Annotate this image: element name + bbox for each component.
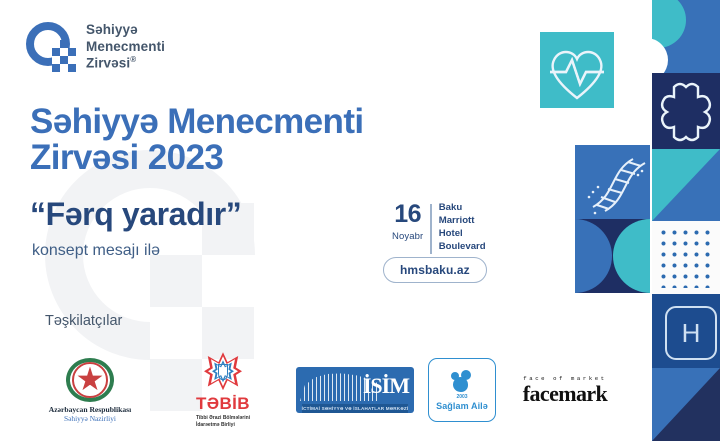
divider bbox=[430, 204, 432, 254]
organiser-logo-saglam-aile[interactable]: 2003 Sağlam Ailə bbox=[428, 358, 496, 422]
title-line-1: Səhiyyə Menecmenti bbox=[30, 104, 500, 140]
organiser-logo-isim[interactable]: İSİM İCTİMAİ SƏHİYYƏ VƏ İSLAHATLAR MƏRKƏ… bbox=[296, 367, 414, 413]
event-venue: Baku Marriott Hotel Boulevard bbox=[439, 202, 486, 254]
brand-logo-line3: Zirvəsi® bbox=[86, 55, 165, 72]
organiser-logo-ministry-of-health[interactable]: Azərbaycan Respublikası Səhiyyə Nazirliy… bbox=[30, 358, 150, 423]
dna-helix-icon bbox=[575, 145, 650, 219]
facemark-name: facemark bbox=[523, 382, 607, 405]
venue-line-3: Hotel bbox=[439, 228, 486, 241]
saglam-aile-year: 2003 bbox=[456, 394, 467, 400]
brand-logo-text: Səhiyyə Menecmenti Zirvəsi® bbox=[86, 22, 165, 72]
medical-cross-icon bbox=[652, 73, 720, 149]
decor-tile-half-circles bbox=[652, 0, 720, 73]
decor-tile-double-half-circle bbox=[575, 219, 650, 293]
decor-tile-dot-grid bbox=[652, 221, 720, 294]
azerbaijan-state-emblem-icon bbox=[66, 358, 114, 402]
decor-tile-triangle-teal bbox=[652, 149, 720, 221]
watermark-pixel bbox=[150, 255, 202, 307]
event-date: 16 Noyabr bbox=[392, 202, 423, 242]
dot-grid-icon bbox=[658, 227, 714, 288]
half-circle-icon bbox=[613, 219, 650, 293]
event-poster: Səhiyyə Menecmenti Zirvəsi® Səhiyyə Mene… bbox=[0, 0, 720, 441]
decor-tile-triangle-navy bbox=[652, 368, 720, 441]
decor-tile-medical-cross bbox=[652, 73, 720, 149]
event-day: 16 bbox=[392, 202, 423, 227]
isim-mark: İSİM bbox=[363, 373, 409, 399]
venue-line-4: Boulevard bbox=[439, 241, 486, 254]
venue-line-2: Marriott bbox=[439, 215, 486, 228]
triangle-icon bbox=[652, 368, 720, 441]
half-circle-icon bbox=[575, 219, 612, 293]
venue-line-1: Baku bbox=[439, 202, 486, 215]
page-title: Səhiyyə Menecmenti Zirvəsi 2023 bbox=[30, 104, 500, 176]
decor-tile-dna bbox=[575, 145, 650, 219]
brand-logo-line2: Menecmenti bbox=[86, 39, 165, 55]
saglam-aile-name: Sağlam Ailə bbox=[436, 401, 488, 411]
organiser-logo-facemark[interactable]: face of market facemark bbox=[510, 375, 620, 405]
organisers-row: Azərbaycan Respublikası Səhiyyə Nazirliy… bbox=[30, 352, 630, 428]
tebib-name: TƏBİB bbox=[196, 395, 250, 412]
event-date-venue: 16 Noyabr Baku Marriott Hotel Boulevard bbox=[392, 202, 486, 254]
triangle-icon bbox=[652, 149, 720, 221]
tebib-subtitle: Tibbi Ərazi Bölmələrini İdarəetmə Birliy… bbox=[196, 415, 250, 428]
watermark-ring-cut bbox=[150, 255, 265, 365]
event-month: Noyabr bbox=[392, 231, 423, 242]
organiser-logo-tebib[interactable]: TƏBİB Tibbi Ərazi Bölmələrini İdarəetmə … bbox=[164, 352, 282, 428]
family-figures-icon bbox=[450, 369, 474, 393]
website-link[interactable]: hmsbaku.az bbox=[383, 257, 487, 283]
brand-logo[interactable]: Səhiyyə Menecmenti Zirvəsi® bbox=[26, 22, 165, 72]
title-line-2: Zirvəsi 2023 bbox=[30, 140, 500, 176]
decor-tile-hospital-h: H bbox=[652, 294, 720, 368]
brand-logo-line1: Səhiyyə bbox=[86, 22, 165, 38]
ministry-line-1: Azərbaycan Respublikası bbox=[49, 405, 132, 414]
sms-ring-pixel-logo-icon bbox=[26, 22, 76, 72]
decor-tile-heart-pulse bbox=[540, 32, 614, 108]
isim-caption: İCTİMAİ SƏHİYYƏ VƏ İSLAHATLAR MƏRKƏZİ bbox=[302, 404, 409, 413]
registered-mark: ® bbox=[130, 55, 136, 64]
ministry-line-2: Səhiyyə Nazirliyi bbox=[64, 414, 116, 423]
heart-pulse-icon bbox=[540, 32, 614, 108]
hospital-h-icon: H bbox=[665, 306, 717, 360]
eight-point-star-caduceus-icon bbox=[204, 352, 242, 390]
organisers-heading: Təşkilatçılar bbox=[45, 313, 122, 329]
